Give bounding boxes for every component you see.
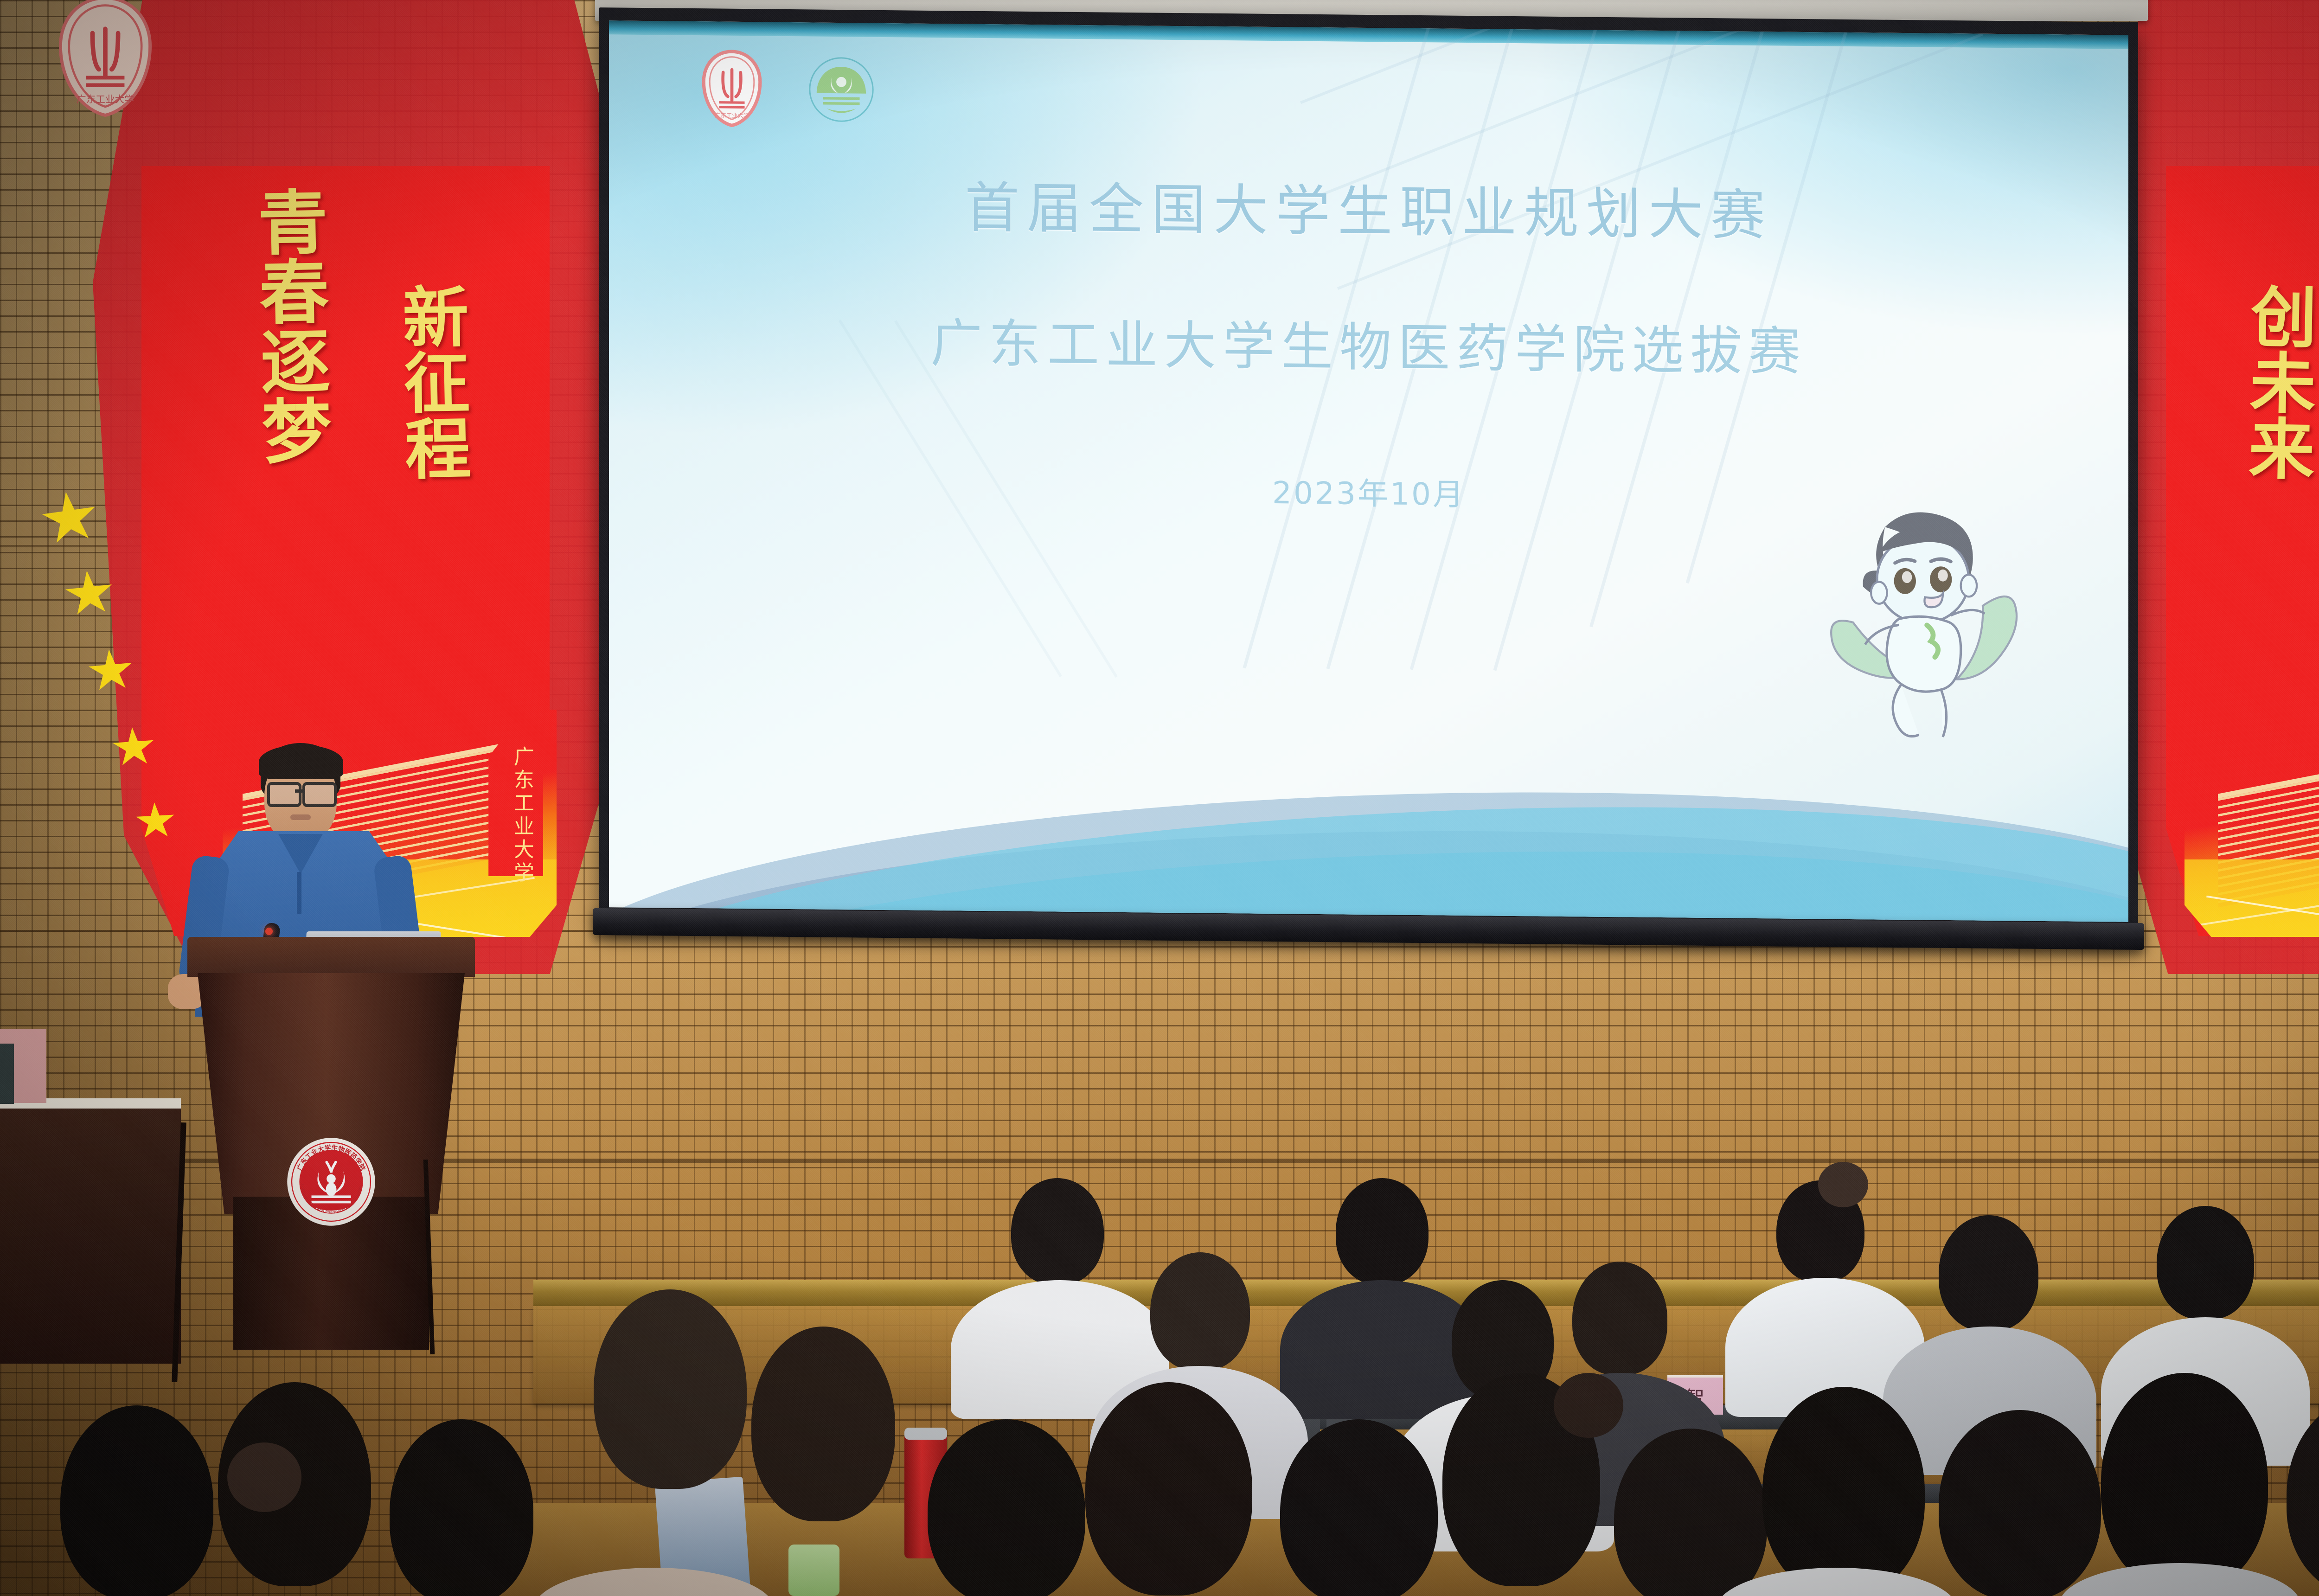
audience-head — [594, 1289, 747, 1489]
slide-title-line-1: 首届全国大学生职业规划大赛 — [609, 160, 2128, 253]
auditorium-photo: 广东工业大学 青春逐梦 新征程 — [0, 0, 2319, 1596]
green-drink-cup — [788, 1545, 839, 1596]
school-of-biomedical-logo — [807, 50, 876, 128]
slide-title-block: 首届全国大学生职业规划大赛 广东工业大学生物医药学院选拔赛 2023年10月 — [609, 160, 2128, 520]
stage-prop-monitor — [0, 1044, 14, 1104]
audience-hair-bun — [1554, 1373, 1623, 1438]
gdut-seal-left: 广东工业大学 — [52, 0, 159, 119]
audience-head — [60, 1405, 213, 1596]
audience-head — [751, 1327, 895, 1521]
audience-head — [928, 1419, 1085, 1596]
svg-text:广东工业大学: 广东工业大学 — [77, 94, 134, 105]
banner-right-column-2: 创未来 — [2230, 283, 2319, 481]
podium-top — [187, 937, 475, 977]
audience-head — [2101, 1373, 2268, 1591]
audience-head — [1762, 1387, 1925, 1596]
audience-head — [1150, 1252, 1250, 1371]
audience-head — [1011, 1178, 1104, 1285]
stage-side-table — [0, 1104, 181, 1364]
audience-hair-bun — [1818, 1162, 1868, 1207]
speaker-mouth — [290, 814, 311, 820]
audience-head — [1939, 1215, 2038, 1331]
audience-head — [1280, 1419, 1438, 1596]
audience-head — [1085, 1382, 1252, 1596]
audience-head — [2157, 1206, 2254, 1320]
campus-building-graphic-right: 广东工业大学 — [2184, 710, 2319, 937]
eyeglass-left — [267, 782, 301, 807]
presentation-slide: 广东工业大学 首届全国大学生职业规划大赛 广东工业大学生物医药学院选拔赛 — [609, 20, 2128, 922]
audience-head — [1572, 1262, 1667, 1375]
podium-emblem: 广东工业大学生物医药学院 School of Biomedical and Ph… — [286, 1136, 377, 1227]
eyeglass-right — [302, 782, 337, 807]
thermos-cap — [904, 1428, 947, 1440]
svg-text:广东工业大学: 广东工业大学 — [715, 112, 749, 119]
slide-title-line-2: 广东工业大学生物医药学院选拔赛 — [609, 298, 2128, 388]
microphone-led — [265, 928, 273, 935]
audience-head — [1939, 1410, 2101, 1596]
audience-head — [1336, 1178, 1429, 1285]
audience-head — [390, 1419, 533, 1596]
building-caption-left: 广东工业大学 — [507, 746, 537, 885]
slide-logo-row: 广东工业大学 — [697, 49, 876, 129]
audience-hair-bun — [227, 1442, 301, 1512]
cartoon-mascot-boy — [1823, 492, 2023, 754]
gdut-university-logo: 广东工业大学 — [697, 49, 767, 128]
eyeglass-bridge — [295, 789, 304, 793]
speaker-hairline — [259, 745, 343, 779]
speaker-placket — [297, 872, 301, 914]
